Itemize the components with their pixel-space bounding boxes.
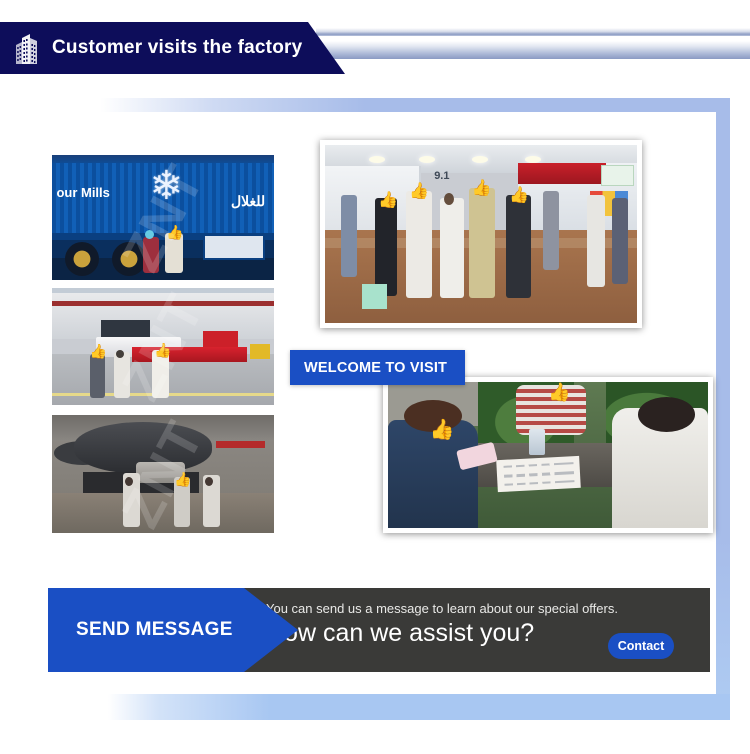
photo-customer-meeting[interactable]: 👍 👍 bbox=[383, 377, 713, 533]
welcome-to-visit-tag[interactable]: WELCOME TO VISIT bbox=[290, 350, 465, 385]
send-message-cta-label: SEND MESSAGE bbox=[48, 619, 233, 641]
office-building-icon bbox=[14, 32, 40, 64]
photo-blue-container-truck[interactable]: ❄ our Mills للغلال 👍 ZNT bbox=[52, 155, 274, 280]
page-root: Customer visits the factory ❄ our Mills … bbox=[0, 0, 750, 754]
send-message-subtitle: You can send us a message to learn about… bbox=[266, 601, 618, 616]
page-title: Customer visits the factory bbox=[52, 37, 302, 59]
dove-logo-icon: ❄ bbox=[150, 166, 212, 204]
photo-red-lowbed-trailer[interactable]: 👍 👍 ZNT bbox=[52, 288, 274, 405]
section-header-banner: Customer visits the factory bbox=[0, 22, 345, 74]
header-stripe-lower bbox=[316, 41, 750, 59]
frame-right-accent-bar bbox=[716, 98, 730, 708]
photo-workshop-tanker[interactable]: 👍 ZNT bbox=[52, 415, 274, 533]
truck-arabic-text: للغلال bbox=[231, 193, 265, 210]
frame-top-accent-bar bbox=[100, 98, 730, 112]
header-stripe-upper bbox=[316, 28, 750, 36]
truck-brand-text: our Mills bbox=[56, 185, 109, 200]
photo-trade-show-booth[interactable]: 9.1 👍 👍 👍 👍 bbox=[320, 140, 642, 328]
booth-number-label: 9.1 bbox=[434, 170, 449, 182]
send-message-bar: You can send us a message to learn about… bbox=[48, 588, 710, 672]
welcome-to-visit-label: WELCOME TO VISIT bbox=[290, 360, 447, 376]
contact-button[interactable]: Contact bbox=[608, 633, 674, 659]
frame-bottom-accent-bar bbox=[108, 694, 730, 720]
send-message-headline: How can we assist you? bbox=[266, 619, 534, 648]
